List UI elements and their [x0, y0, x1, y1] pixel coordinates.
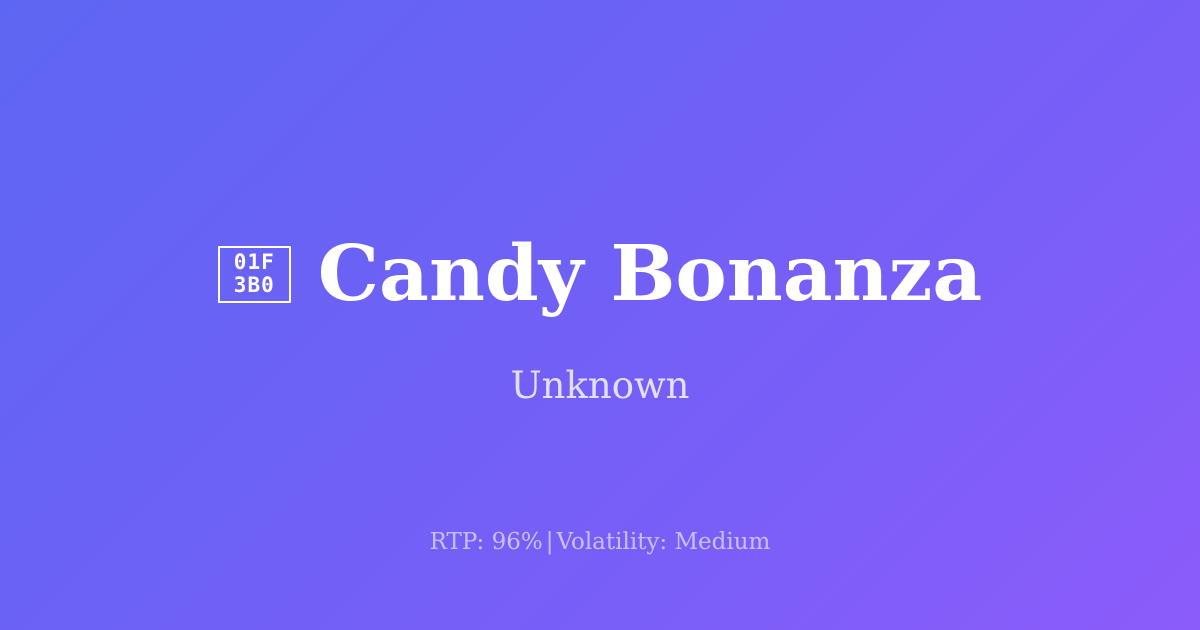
volatility-label: Volatility: — [556, 529, 667, 555]
tofu-codepoint-bottom: 3B0 — [234, 274, 275, 297]
volatility-value: Medium — [675, 529, 771, 555]
rtp-value: 96% — [492, 529, 543, 555]
tofu-codepoint-top: 01F — [234, 251, 275, 274]
game-provider: Unknown — [0, 362, 1200, 410]
game-preview-card: 01F 3B0 Candy Bonanza Unknown RTP: 96%|V… — [0, 0, 1200, 630]
slot-machine-emoji-icon: 01F 3B0 — [218, 246, 291, 303]
title-row: 01F 3B0 Candy Bonanza — [0, 232, 1200, 316]
rtp-label: RTP: — [430, 529, 485, 555]
stats-separator: | — [543, 529, 557, 555]
game-title: Candy Bonanza — [318, 232, 982, 316]
game-stats: RTP: 96%|Volatility: Medium — [0, 527, 1200, 557]
